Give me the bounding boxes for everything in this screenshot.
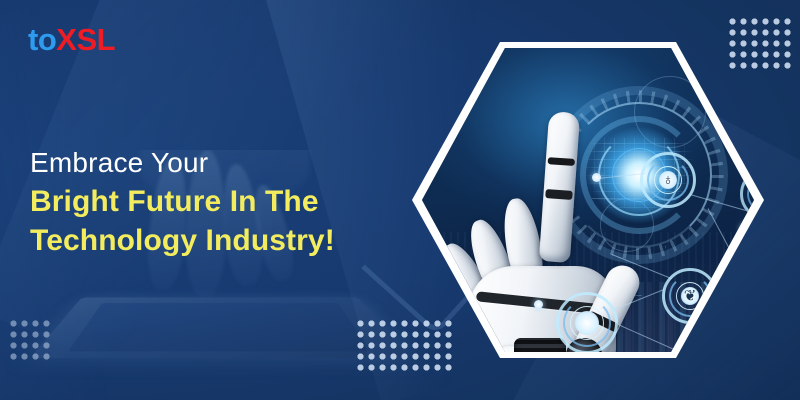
- globe-node-icon: ♁: [640, 152, 696, 208]
- background-tablet-screen: [68, 303, 372, 351]
- promo-banner: toXSL Embrace Your Bright Future In The …: [0, 0, 800, 400]
- hub-node-icon: [556, 292, 618, 352]
- headline-line-1: Embrace Your: [30, 145, 390, 182]
- headline-line-3: Technology Industry!: [30, 221, 390, 260]
- globe-icon: ♁: [662, 173, 673, 188]
- dot-grid-left-low: [8, 318, 53, 363]
- headline-block: Embrace Your Bright Future In The Techno…: [30, 145, 390, 260]
- robot-index-finger: [539, 111, 580, 263]
- robot-mechanism: [514, 338, 566, 352]
- headline-line-2: Bright Future In The: [30, 182, 390, 221]
- network-node-dot: [592, 173, 601, 182]
- brain-icon: ❦: [684, 289, 697, 304]
- background-tablet: [30, 297, 410, 358]
- network-node-dot: [534, 300, 543, 309]
- network-node-dot: [690, 336, 699, 345]
- node-ring: [556, 292, 618, 352]
- brand-logo[interactable]: toXSL: [28, 24, 115, 55]
- hero-hexagon-frame: ♁ ❦: [412, 42, 764, 358]
- logo-text-to: to: [28, 22, 56, 57]
- logo-text-sl: SL: [76, 22, 115, 57]
- logo-text-x: X: [56, 22, 76, 57]
